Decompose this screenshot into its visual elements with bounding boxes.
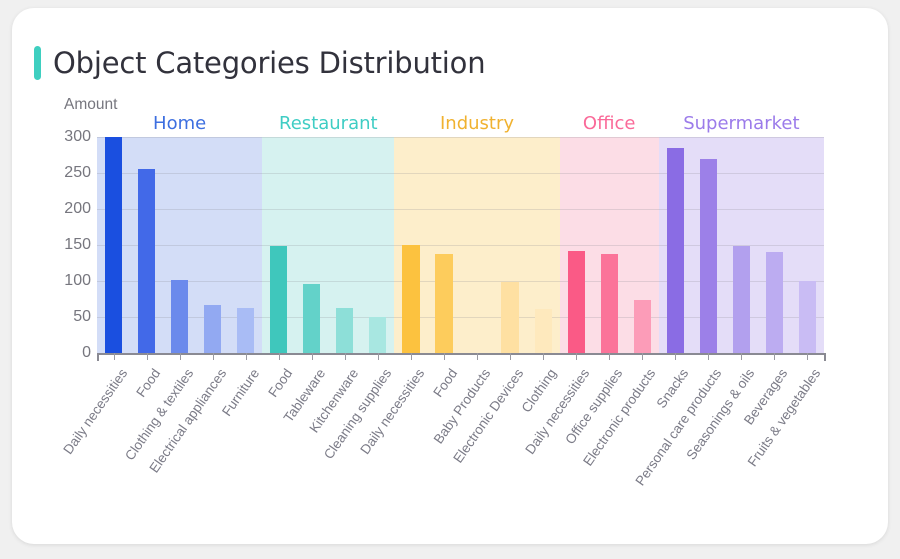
x-axis-start-cap — [97, 353, 99, 361]
bar[interactable] — [303, 284, 320, 353]
y-tick-label: 50 — [73, 308, 91, 326]
group-label-supermarket: Supermarket — [683, 113, 799, 134]
x-tick — [180, 353, 181, 360]
y-tick-label: 300 — [64, 128, 91, 146]
x-tick — [708, 353, 709, 360]
y-tick-label: 150 — [64, 236, 91, 254]
chart-header: Object Categories Distribution — [34, 46, 485, 80]
x-tick — [642, 353, 643, 360]
y-axis-ticks: 050100150200250300 — [12, 137, 91, 353]
x-tick — [114, 353, 115, 360]
x-tick — [675, 353, 676, 360]
page-title: Object Categories Distribution — [53, 46, 485, 80]
group-label-industry: Industry — [440, 113, 514, 134]
x-tick — [543, 353, 544, 360]
y-axis-title: Amount — [64, 96, 117, 114]
bar[interactable] — [105, 137, 122, 353]
x-tick — [444, 353, 445, 360]
x-tick — [510, 353, 511, 360]
group-label-home: Home — [153, 113, 206, 134]
group-label-office: Office — [583, 113, 636, 134]
title-accent-bar — [34, 46, 41, 80]
x-tick — [609, 353, 610, 360]
x-tick — [741, 353, 742, 360]
x-axis-end-cap — [824, 353, 826, 361]
gridline — [97, 137, 824, 138]
x-tick — [246, 353, 247, 360]
x-tick — [774, 353, 775, 360]
x-tick — [378, 353, 379, 360]
x-tick — [279, 353, 280, 360]
x-tick — [312, 353, 313, 360]
x-tick — [345, 353, 346, 360]
x-axis-label-text: Food — [133, 366, 163, 400]
x-tick — [411, 353, 412, 360]
x-tick — [147, 353, 148, 360]
y-tick-label: 200 — [64, 200, 91, 218]
x-tick — [807, 353, 808, 360]
bar[interactable] — [700, 159, 717, 353]
x-tick — [213, 353, 214, 360]
x-tick — [477, 353, 478, 360]
x-axis-labels: Daily necessitiesFoodClothing & textiles… — [12, 358, 900, 548]
y-tick-label: 250 — [64, 164, 91, 182]
x-axis-label-text: Food — [430, 366, 460, 400]
group-label-restaurant: Restaurant — [279, 113, 378, 134]
x-axis-label-text: Food — [265, 366, 295, 400]
x-axis-label-text: Daily necessities — [60, 366, 130, 457]
chart-card: Object Categories Distribution Amount 05… — [12, 8, 888, 544]
x-tick — [576, 353, 577, 360]
y-tick-label: 100 — [64, 272, 91, 290]
